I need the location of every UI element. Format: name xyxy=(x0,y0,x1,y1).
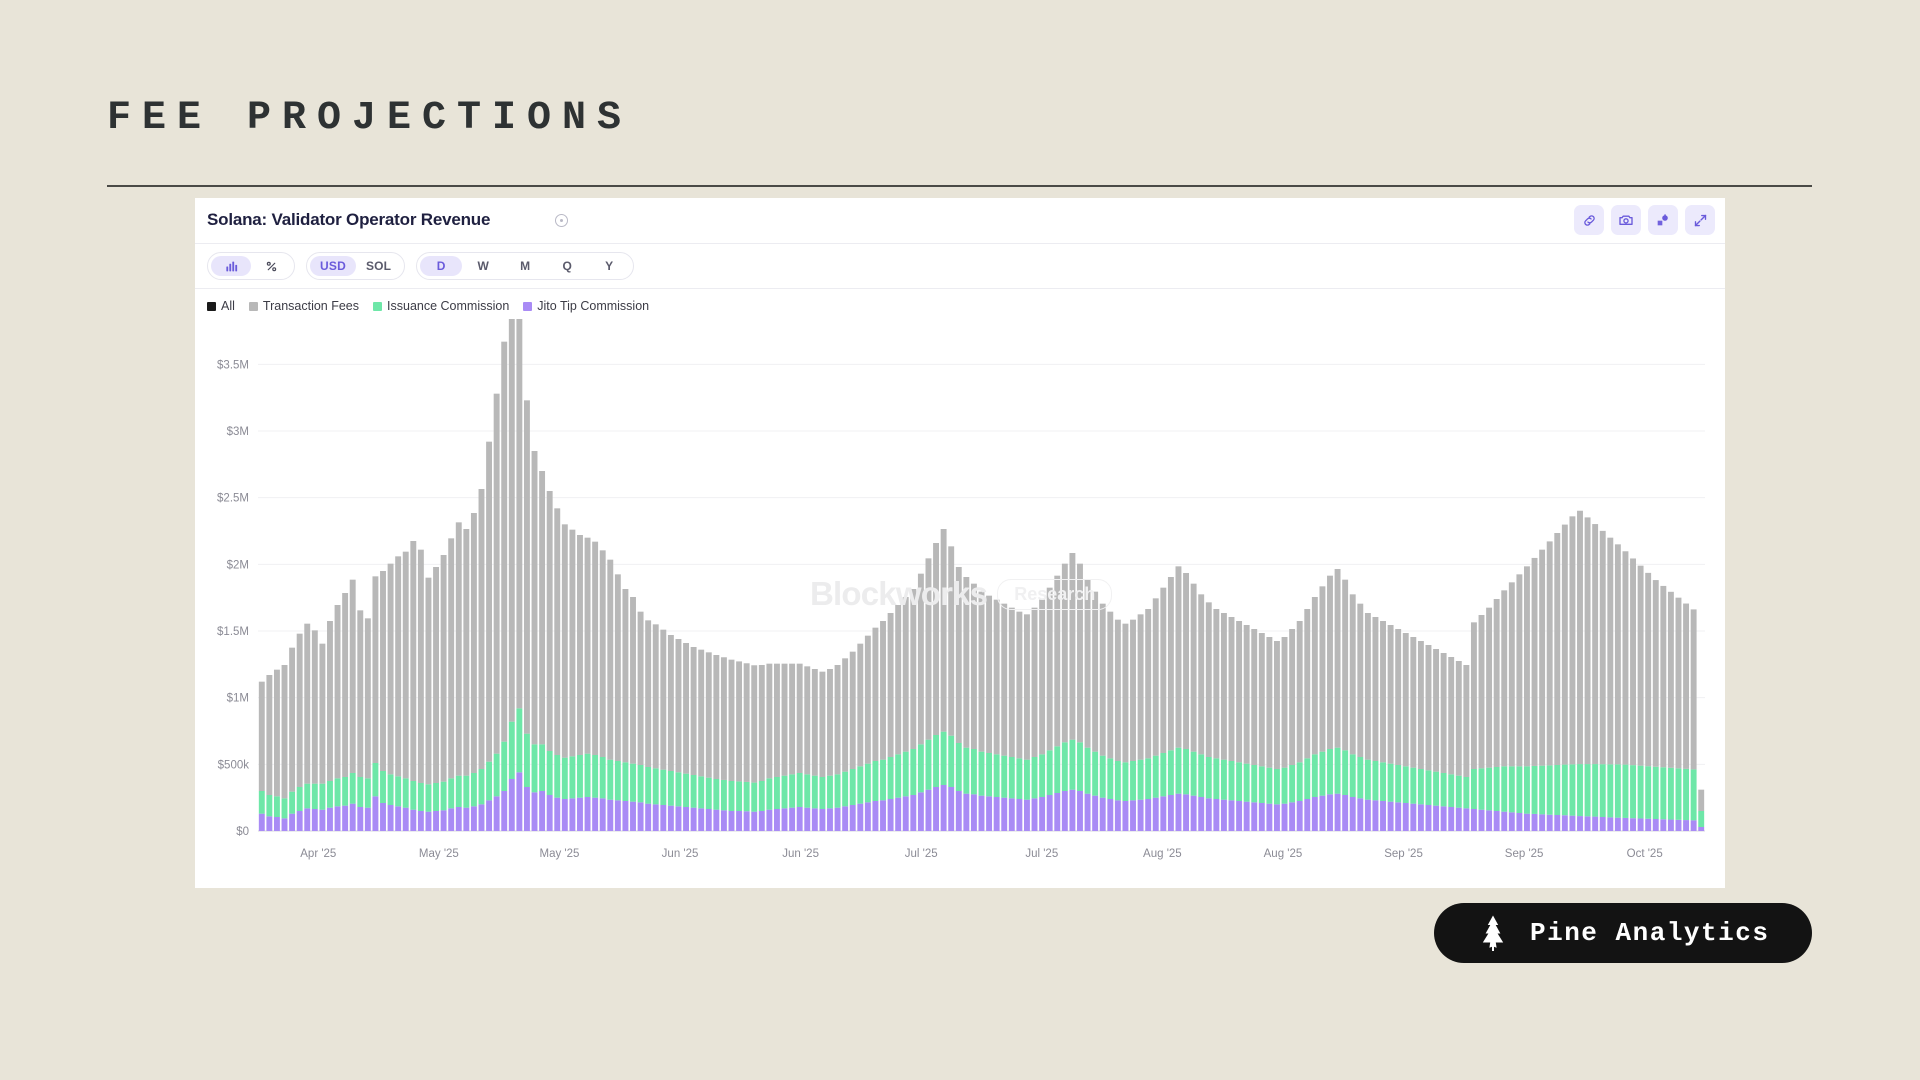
share-icon[interactable] xyxy=(1648,205,1678,235)
chart-legend: All Transaction Fees Issuance Commission… xyxy=(195,289,1725,319)
svg-text:$3M: $3M xyxy=(227,426,249,438)
card-header: Solana: Validator Operator Revenue xyxy=(195,198,1725,244)
legend-swatch xyxy=(373,302,382,311)
title-divider xyxy=(107,185,1812,187)
interval-w[interactable]: W xyxy=(462,256,504,276)
interval-group: D W M Q Y xyxy=(416,252,634,280)
denomination-usd[interactable]: USD xyxy=(310,256,356,276)
svg-text:Apr '25: Apr '25 xyxy=(300,848,336,860)
svg-text:Aug '25: Aug '25 xyxy=(1143,848,1182,860)
chart-card: Solana: Validator Operator Revenue xyxy=(195,198,1725,888)
svg-text:$3.5M: $3.5M xyxy=(217,359,249,371)
legend-item-all[interactable]: All xyxy=(207,299,235,313)
svg-text:Jun '25: Jun '25 xyxy=(782,848,819,860)
legend-swatch xyxy=(523,302,532,311)
svg-text:May '25: May '25 xyxy=(419,848,459,860)
svg-text:Jul '25: Jul '25 xyxy=(905,848,938,860)
svg-text:Sep '25: Sep '25 xyxy=(1505,848,1544,860)
legend-label: All xyxy=(221,299,235,313)
interval-d[interactable]: D xyxy=(420,256,462,276)
plot-area: $0$500k$1M$1.5M$2M$2.5M$3M$3.5MApr '25Ma… xyxy=(195,319,1725,879)
header-toolbar xyxy=(1574,205,1715,235)
svg-text:May '25: May '25 xyxy=(539,848,579,860)
legend-item-jito-tip-commission[interactable]: Jito Tip Commission xyxy=(523,299,649,313)
chart-controls: USD SOL D W M Q Y xyxy=(195,244,1725,289)
svg-text:$500k: $500k xyxy=(218,759,250,771)
interval-m[interactable]: M xyxy=(504,256,546,276)
svg-text:$1M: $1M xyxy=(227,693,249,705)
percent-icon[interactable] xyxy=(251,256,291,276)
svg-text:Jun '25: Jun '25 xyxy=(662,848,699,860)
camera-icon[interactable] xyxy=(1611,205,1641,235)
svg-text:Sep '25: Sep '25 xyxy=(1384,848,1423,860)
chart-title: Solana: Validator Operator Revenue xyxy=(207,210,490,230)
brand-badge: Pine Analytics xyxy=(1434,903,1812,963)
expand-icon[interactable] xyxy=(1685,205,1715,235)
denomination-sol[interactable]: SOL xyxy=(356,256,401,276)
svg-text:$2M: $2M xyxy=(227,559,249,571)
page-title: FEE PROJECTIONS xyxy=(107,96,632,141)
bar-chart-icon[interactable] xyxy=(211,256,251,276)
svg-text:$2.5M: $2.5M xyxy=(217,493,249,505)
stacked-bar-chart: $0$500k$1M$1.5M$2M$2.5M$3M$3.5MApr '25Ma… xyxy=(195,319,1725,879)
svg-text:$1.5M: $1.5M xyxy=(217,626,249,638)
chart-type-group xyxy=(207,252,295,280)
legend-label: Jito Tip Commission xyxy=(537,299,649,313)
legend-swatch xyxy=(207,302,216,311)
svg-text:Aug '25: Aug '25 xyxy=(1264,848,1303,860)
legend-item-issuance-commission[interactable]: Issuance Commission xyxy=(373,299,509,313)
legend-label: Transaction Fees xyxy=(263,299,359,313)
legend-item-transaction-fees[interactable]: Transaction Fees xyxy=(249,299,359,313)
brand-name: Pine Analytics xyxy=(1530,918,1769,948)
info-circle-icon[interactable] xyxy=(555,214,568,227)
svg-text:$0: $0 xyxy=(236,826,249,838)
interval-y[interactable]: Y xyxy=(588,256,630,276)
legend-swatch xyxy=(249,302,258,311)
legend-label: Issuance Commission xyxy=(387,299,509,313)
svg-text:Oct '25: Oct '25 xyxy=(1627,848,1663,860)
svg-text:Jul '25: Jul '25 xyxy=(1025,848,1058,860)
link-icon[interactable] xyxy=(1574,205,1604,235)
pine-tree-icon xyxy=(1476,914,1510,952)
denomination-group: USD SOL xyxy=(306,252,405,280)
interval-q[interactable]: Q xyxy=(546,256,588,276)
